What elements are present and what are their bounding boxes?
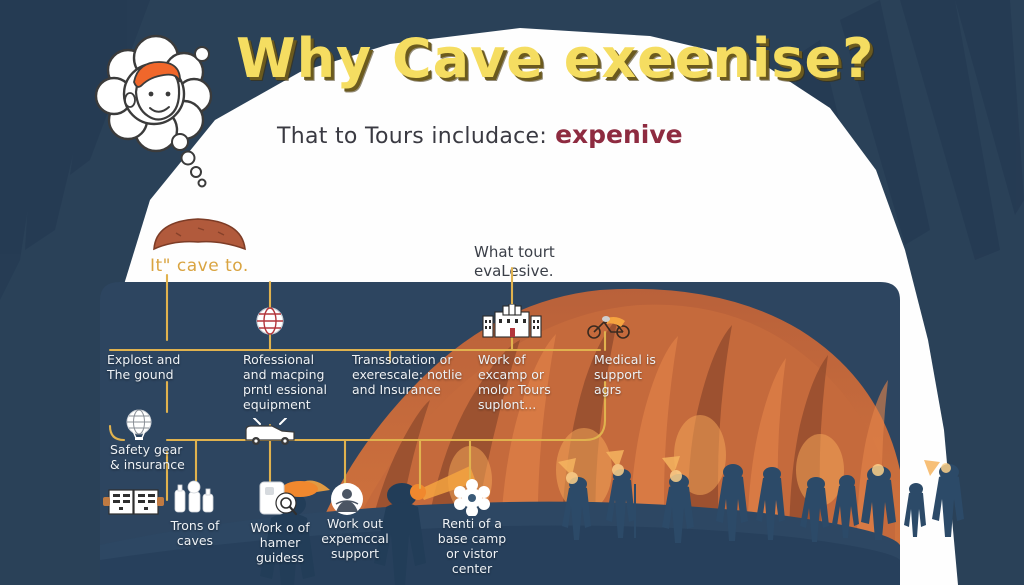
node-expemccal-line2: expemccal xyxy=(308,531,402,546)
node-professional-line1: Rofessional xyxy=(243,352,343,367)
node-transsotation: Transsotation or exerescale: notlie and … xyxy=(352,352,470,397)
person-circle-icon xyxy=(330,482,364,516)
motorcycle-icon xyxy=(585,314,633,340)
node-explost: Explost and The gound xyxy=(107,352,217,382)
node-professional-line4: equipment xyxy=(243,397,343,412)
node-explost-line1: Explost and xyxy=(107,352,217,367)
node-basecamp-line4: center xyxy=(424,561,520,576)
node-expemccal: Work out expemccal support xyxy=(308,516,402,561)
node-work-excamp: Work of excamp or molor Tours suplont... xyxy=(478,352,574,412)
node-work-excamp-line2: excamp or xyxy=(478,367,574,382)
node-professional: Rofessional and macping prntl essional e… xyxy=(243,352,343,412)
node-professional-line2: and macping xyxy=(243,367,343,382)
node-basecamp: Renti of a base camp or vistor center xyxy=(424,516,520,576)
node-basecamp-line3: or vistor xyxy=(424,546,520,561)
balloon-globe-icon xyxy=(124,408,154,440)
castle-icon xyxy=(481,304,543,338)
globe-grid-icon xyxy=(254,306,286,336)
node-medical-line1: Medical is xyxy=(594,352,684,367)
node-expemccal-line3: support xyxy=(308,546,402,561)
bottles-icon xyxy=(172,480,216,514)
node-safety-gear-line2: & insurance xyxy=(110,457,202,472)
document-seal-icon xyxy=(257,480,299,518)
node-work-excamp-line3: molor Tours xyxy=(478,382,574,397)
node-trons-line1: Trons of xyxy=(150,518,240,533)
infographic-canvas: Why Cave exeenise? That to Tours includa… xyxy=(0,0,1024,585)
node-professional-line3: prntl essional xyxy=(243,382,343,397)
node-transsotation-line3: and Insurance xyxy=(352,382,470,397)
open-book-icon xyxy=(103,487,165,517)
flower-star-icon xyxy=(453,478,491,516)
node-medical: Medical is support agrs xyxy=(594,352,684,397)
van-icon xyxy=(242,418,298,448)
node-trons: Trons of caves xyxy=(150,518,240,548)
node-basecamp-line1: Renti of a xyxy=(424,516,520,531)
node-transsotation-line2: exerescale: notlie xyxy=(352,367,470,382)
node-medical-line2: support xyxy=(594,367,684,382)
node-safety-gear: Safety gear & insurance xyxy=(110,442,202,472)
node-expemccal-line1: Work out xyxy=(308,516,402,531)
node-medical-line3: agrs xyxy=(594,382,684,397)
node-work-excamp-line1: Work of xyxy=(478,352,574,367)
node-basecamp-line2: base camp xyxy=(424,531,520,546)
node-transsotation-line1: Transsotation or xyxy=(352,352,470,367)
node-explost-line2: The gound xyxy=(107,367,217,382)
node-work-excamp-line4: suplont... xyxy=(478,397,574,412)
node-trons-line2: caves xyxy=(150,533,240,548)
node-safety-gear-line1: Safety gear xyxy=(110,442,202,457)
